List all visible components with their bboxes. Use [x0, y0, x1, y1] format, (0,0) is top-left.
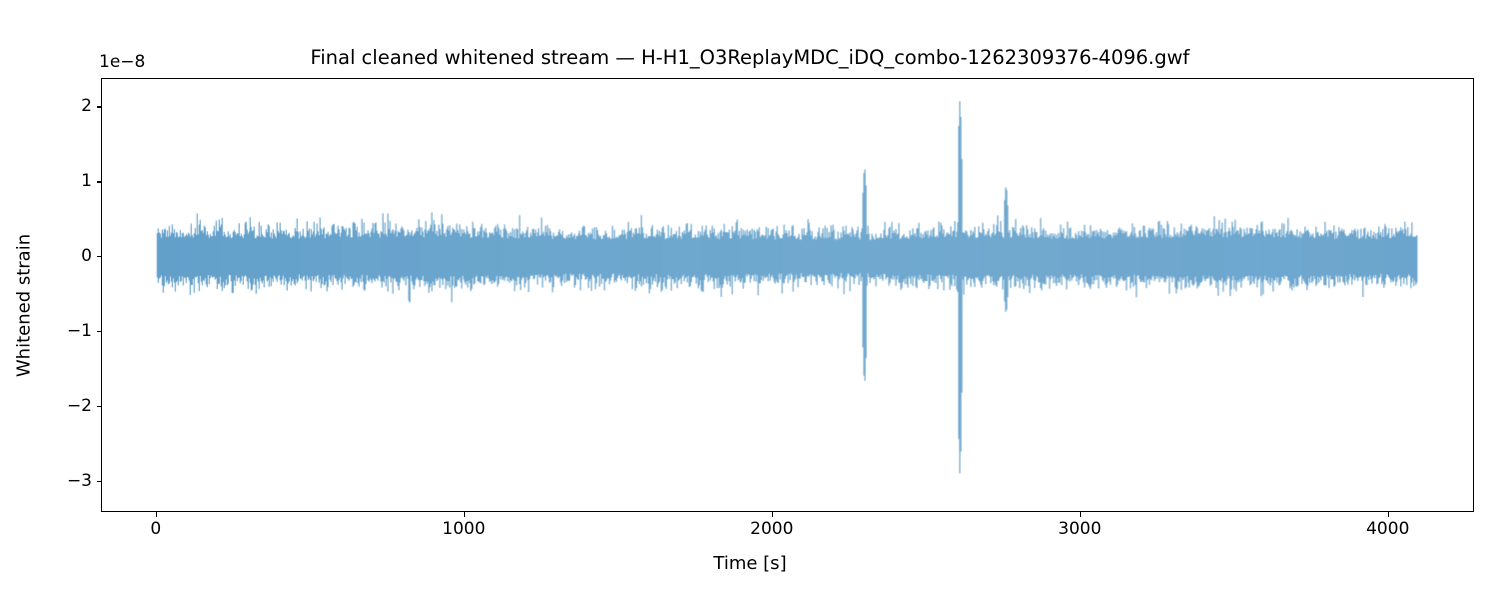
y-tick-label: 0 — [81, 246, 92, 266]
plot-axes — [101, 78, 1474, 512]
y-axis-offset-text: 1e−8 — [99, 52, 145, 72]
y-tick-label: −2 — [67, 396, 92, 416]
x-axis-label: Time [s] — [0, 553, 1500, 574]
y-tick-mark — [97, 181, 102, 182]
y-tick-label: −3 — [67, 471, 92, 491]
chart-title: Final cleaned whitened stream — H-H1_O3R… — [0, 46, 1500, 69]
x-tick-mark — [1388, 512, 1389, 517]
x-tick-label: 3000 — [1058, 519, 1101, 539]
x-tick-mark — [156, 512, 157, 517]
x-tick-label: 0 — [150, 519, 161, 539]
y-tick-mark — [97, 256, 102, 257]
y-tick-label: 2 — [81, 96, 92, 116]
y-tick-label: −1 — [67, 321, 92, 341]
y-tick-mark — [97, 106, 102, 107]
y-tick-mark — [97, 481, 102, 482]
x-tick-mark — [1080, 512, 1081, 517]
x-tick-mark — [772, 512, 773, 517]
matplotlib-figure: Final cleaned whitened stream — H-H1_O3R… — [0, 0, 1500, 600]
y-tick-label: 1 — [81, 171, 92, 191]
x-tick-mark — [464, 512, 465, 517]
x-tick-label: 2000 — [750, 519, 793, 539]
y-tick-mark — [97, 406, 102, 407]
y-axis-label: Whitened strain — [14, 216, 35, 396]
x-tick-label-group: 01000200030004000 — [0, 519, 1500, 547]
timeseries-plot-canvas — [102, 79, 1473, 511]
x-tick-label: 4000 — [1366, 519, 1409, 539]
x-tick-label: 1000 — [442, 519, 485, 539]
y-tick-mark — [97, 331, 102, 332]
